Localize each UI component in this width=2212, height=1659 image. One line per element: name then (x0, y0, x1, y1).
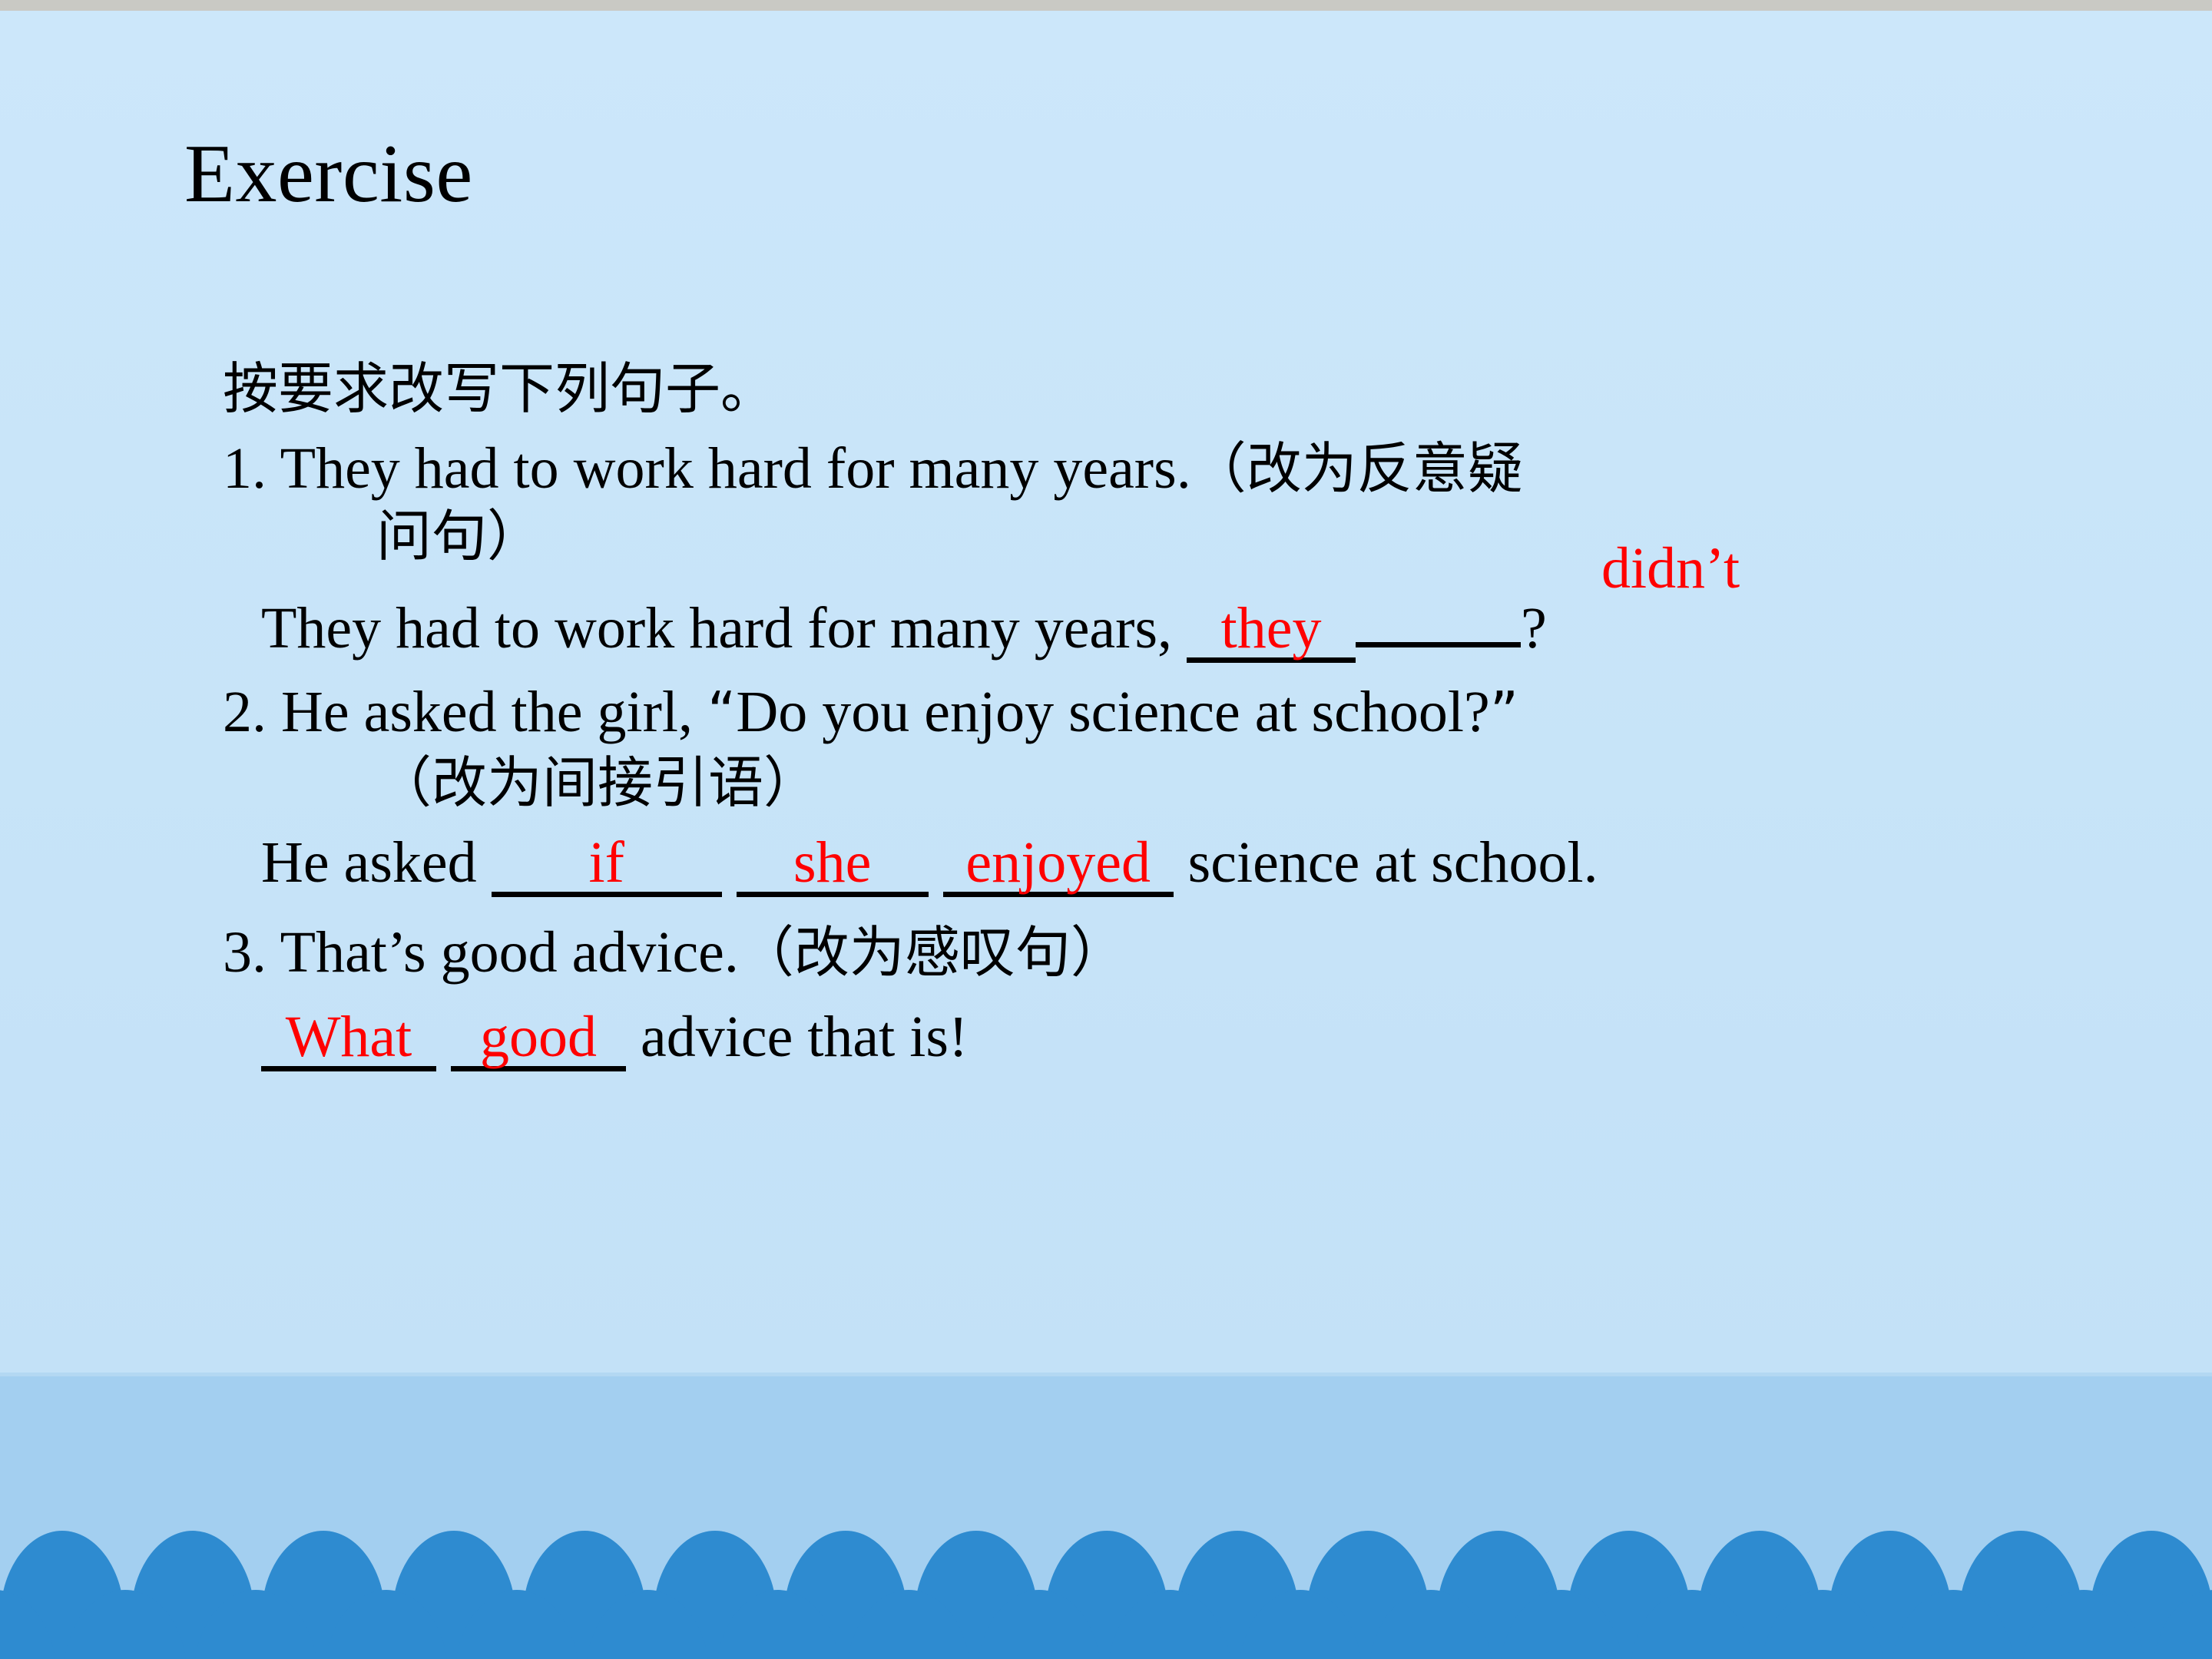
question-1-floating-answer: didn’t (1601, 539, 1740, 598)
top-gray-strip (0, 0, 2212, 11)
decorative-dot (1499, 1590, 1624, 1659)
decorative-dot (977, 1590, 1101, 1659)
question-3-answer-suffix: advice that is! (641, 1005, 968, 1069)
question-1-prompt-en: They had to work hard for many years. (280, 436, 1191, 501)
question-3-blank-1[interactable]: What (261, 1008, 436, 1071)
question-2-quoted-text: Do you enjoy science at school? (736, 680, 1489, 744)
question-2-prompt: 2. He asked the girl, “Do you enjoy scie… (223, 683, 2189, 741)
question-3-prompt-en: That’s good advice. (280, 920, 739, 985)
question-1-answer-suffix: ? (1521, 596, 1547, 661)
decorative-dot (0, 1590, 57, 1659)
question-1-answer-prefix: They had to work hard for many years, (261, 596, 1172, 661)
quote-close-icon: ” (1490, 680, 1518, 744)
question-2-number: 2. (223, 680, 267, 744)
decorative-dot (846, 1590, 971, 1659)
question-2-blank-1[interactable]: if (492, 833, 722, 897)
decorative-dot (1760, 1590, 1885, 1659)
decorative-dot (1238, 1590, 1363, 1659)
question-2-blank-3[interactable]: enjoyed (943, 833, 1174, 897)
decorative-dot (585, 1590, 710, 1659)
decorative-dot (63, 1590, 187, 1659)
decorative-dot (2022, 1590, 2146, 1659)
question-2-answer-suffix: science at school. (1188, 830, 1598, 895)
question-3-blank-2[interactable]: good (451, 1008, 626, 1071)
question-2-blank-2[interactable]: she (737, 833, 929, 897)
question-2-prompt-part1: He asked the girl, (281, 680, 693, 744)
decorative-dot-row-bottom (0, 1590, 2212, 1659)
decorative-dot (194, 1590, 318, 1659)
question-3-number: 3. (223, 920, 267, 985)
decorative-dot (2152, 1590, 2212, 1659)
question-1-prompt: 1. They had to work hard for many years.… (223, 439, 2189, 498)
exercise-body: 按要求改写下列句子。 1. They had to work hard for … (223, 361, 2189, 1071)
question-1-blank-1[interactable]: they (1187, 599, 1356, 663)
decorative-dot (324, 1590, 449, 1659)
question-1-number: 1. (223, 436, 267, 501)
decorative-dot (1630, 1590, 1754, 1659)
decorative-dot (1369, 1590, 1493, 1659)
slide-canvas: Exercise 按要求改写下列句子。 1. They had to work … (0, 0, 2212, 1659)
instruction-line: 按要求改写下列句子。 (223, 361, 2189, 416)
decorative-dot (1108, 1590, 1232, 1659)
question-1-blank-2[interactable] (1356, 584, 1521, 647)
question-2-answer-prefix: He asked (261, 830, 477, 895)
question-3-answer-line: What good advice that is! (223, 1008, 2189, 1071)
question-2-prompt-cn: （改为间接引语） (223, 755, 2189, 810)
question-1-prompt-cn-1: （改为反意疑 (1191, 436, 1523, 501)
question-2-answer-line: He asked if she enjoyed science at schoo… (223, 833, 2189, 897)
question-3-prompt: 3. That’s good advice.（改为感叹句） (223, 923, 2189, 982)
question-3-prompt-cn: （改为感叹句） (739, 920, 1126, 985)
question-1-prompt-cn-2: 问句） (223, 508, 2189, 564)
decorative-dot (716, 1590, 840, 1659)
page-title: Exercise (184, 131, 473, 217)
decorative-dot (1891, 1590, 2015, 1659)
question-1-answer-line: didn’t They had to work hard for many ye… (223, 584, 2189, 663)
decorative-dot (455, 1590, 579, 1659)
quote-open-icon: “ (707, 680, 736, 744)
band-divider (0, 1373, 2212, 1376)
